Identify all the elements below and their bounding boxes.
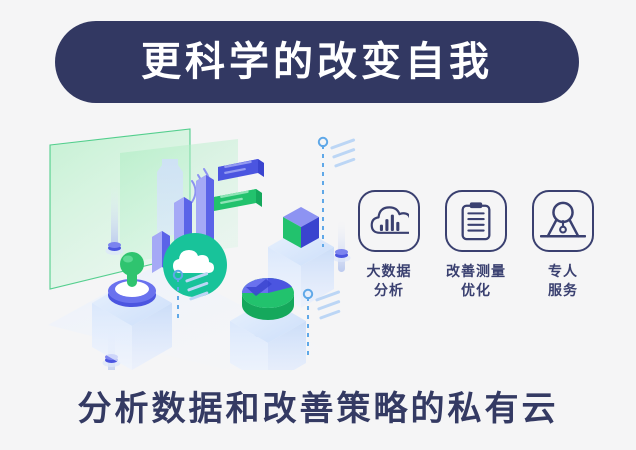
feature-list: 大数据 分析 改善测量 优化 xyxy=(352,190,600,330)
feature-label-line-1: 专人 xyxy=(548,263,578,282)
clipboard-icon xyxy=(459,201,493,241)
pie-chart-3d xyxy=(242,278,294,320)
feature-item-dedicated-service[interactable]: 专人 服务 xyxy=(526,190,600,301)
page-title: 更科学的改变自我 xyxy=(141,42,493,82)
promo-banner: 更科学的改变自我 xyxy=(0,0,636,450)
clipboard-icon-frame xyxy=(445,190,507,252)
feature-label-line-2: 分析 xyxy=(367,282,412,301)
tagline: 分析数据和改善策略的私有云 xyxy=(0,381,636,430)
feature-label-dedicated-service: 专人 服务 xyxy=(548,263,578,301)
feature-label-big-data-analysis: 大数据 分析 xyxy=(367,263,412,301)
service-agent-icon-frame xyxy=(532,190,594,252)
pin-marker xyxy=(333,220,351,272)
feature-label-line-2: 优化 xyxy=(446,282,506,301)
header-pill: 更科学的改变自我 xyxy=(55,21,579,103)
service-agent-icon xyxy=(540,200,586,242)
feature-item-big-data-analysis[interactable]: 大数据 分析 xyxy=(352,190,426,301)
feature-label-line-1: 大数据 xyxy=(367,263,412,282)
dashed-indicator-line xyxy=(319,138,356,247)
feature-label-line-2: 服务 xyxy=(548,282,578,301)
illustration-isometric-data-cloud xyxy=(40,125,370,370)
feature-label-line-1: 改善测量 xyxy=(446,263,506,282)
cloud-bar-chart-icon-frame xyxy=(358,190,420,252)
feature-item-measurement-optimization[interactable]: 改善测量 优化 xyxy=(439,190,513,301)
cloud-bar-chart-icon xyxy=(369,204,409,238)
feature-label-measurement-optimization: 改善测量 优化 xyxy=(446,263,506,301)
